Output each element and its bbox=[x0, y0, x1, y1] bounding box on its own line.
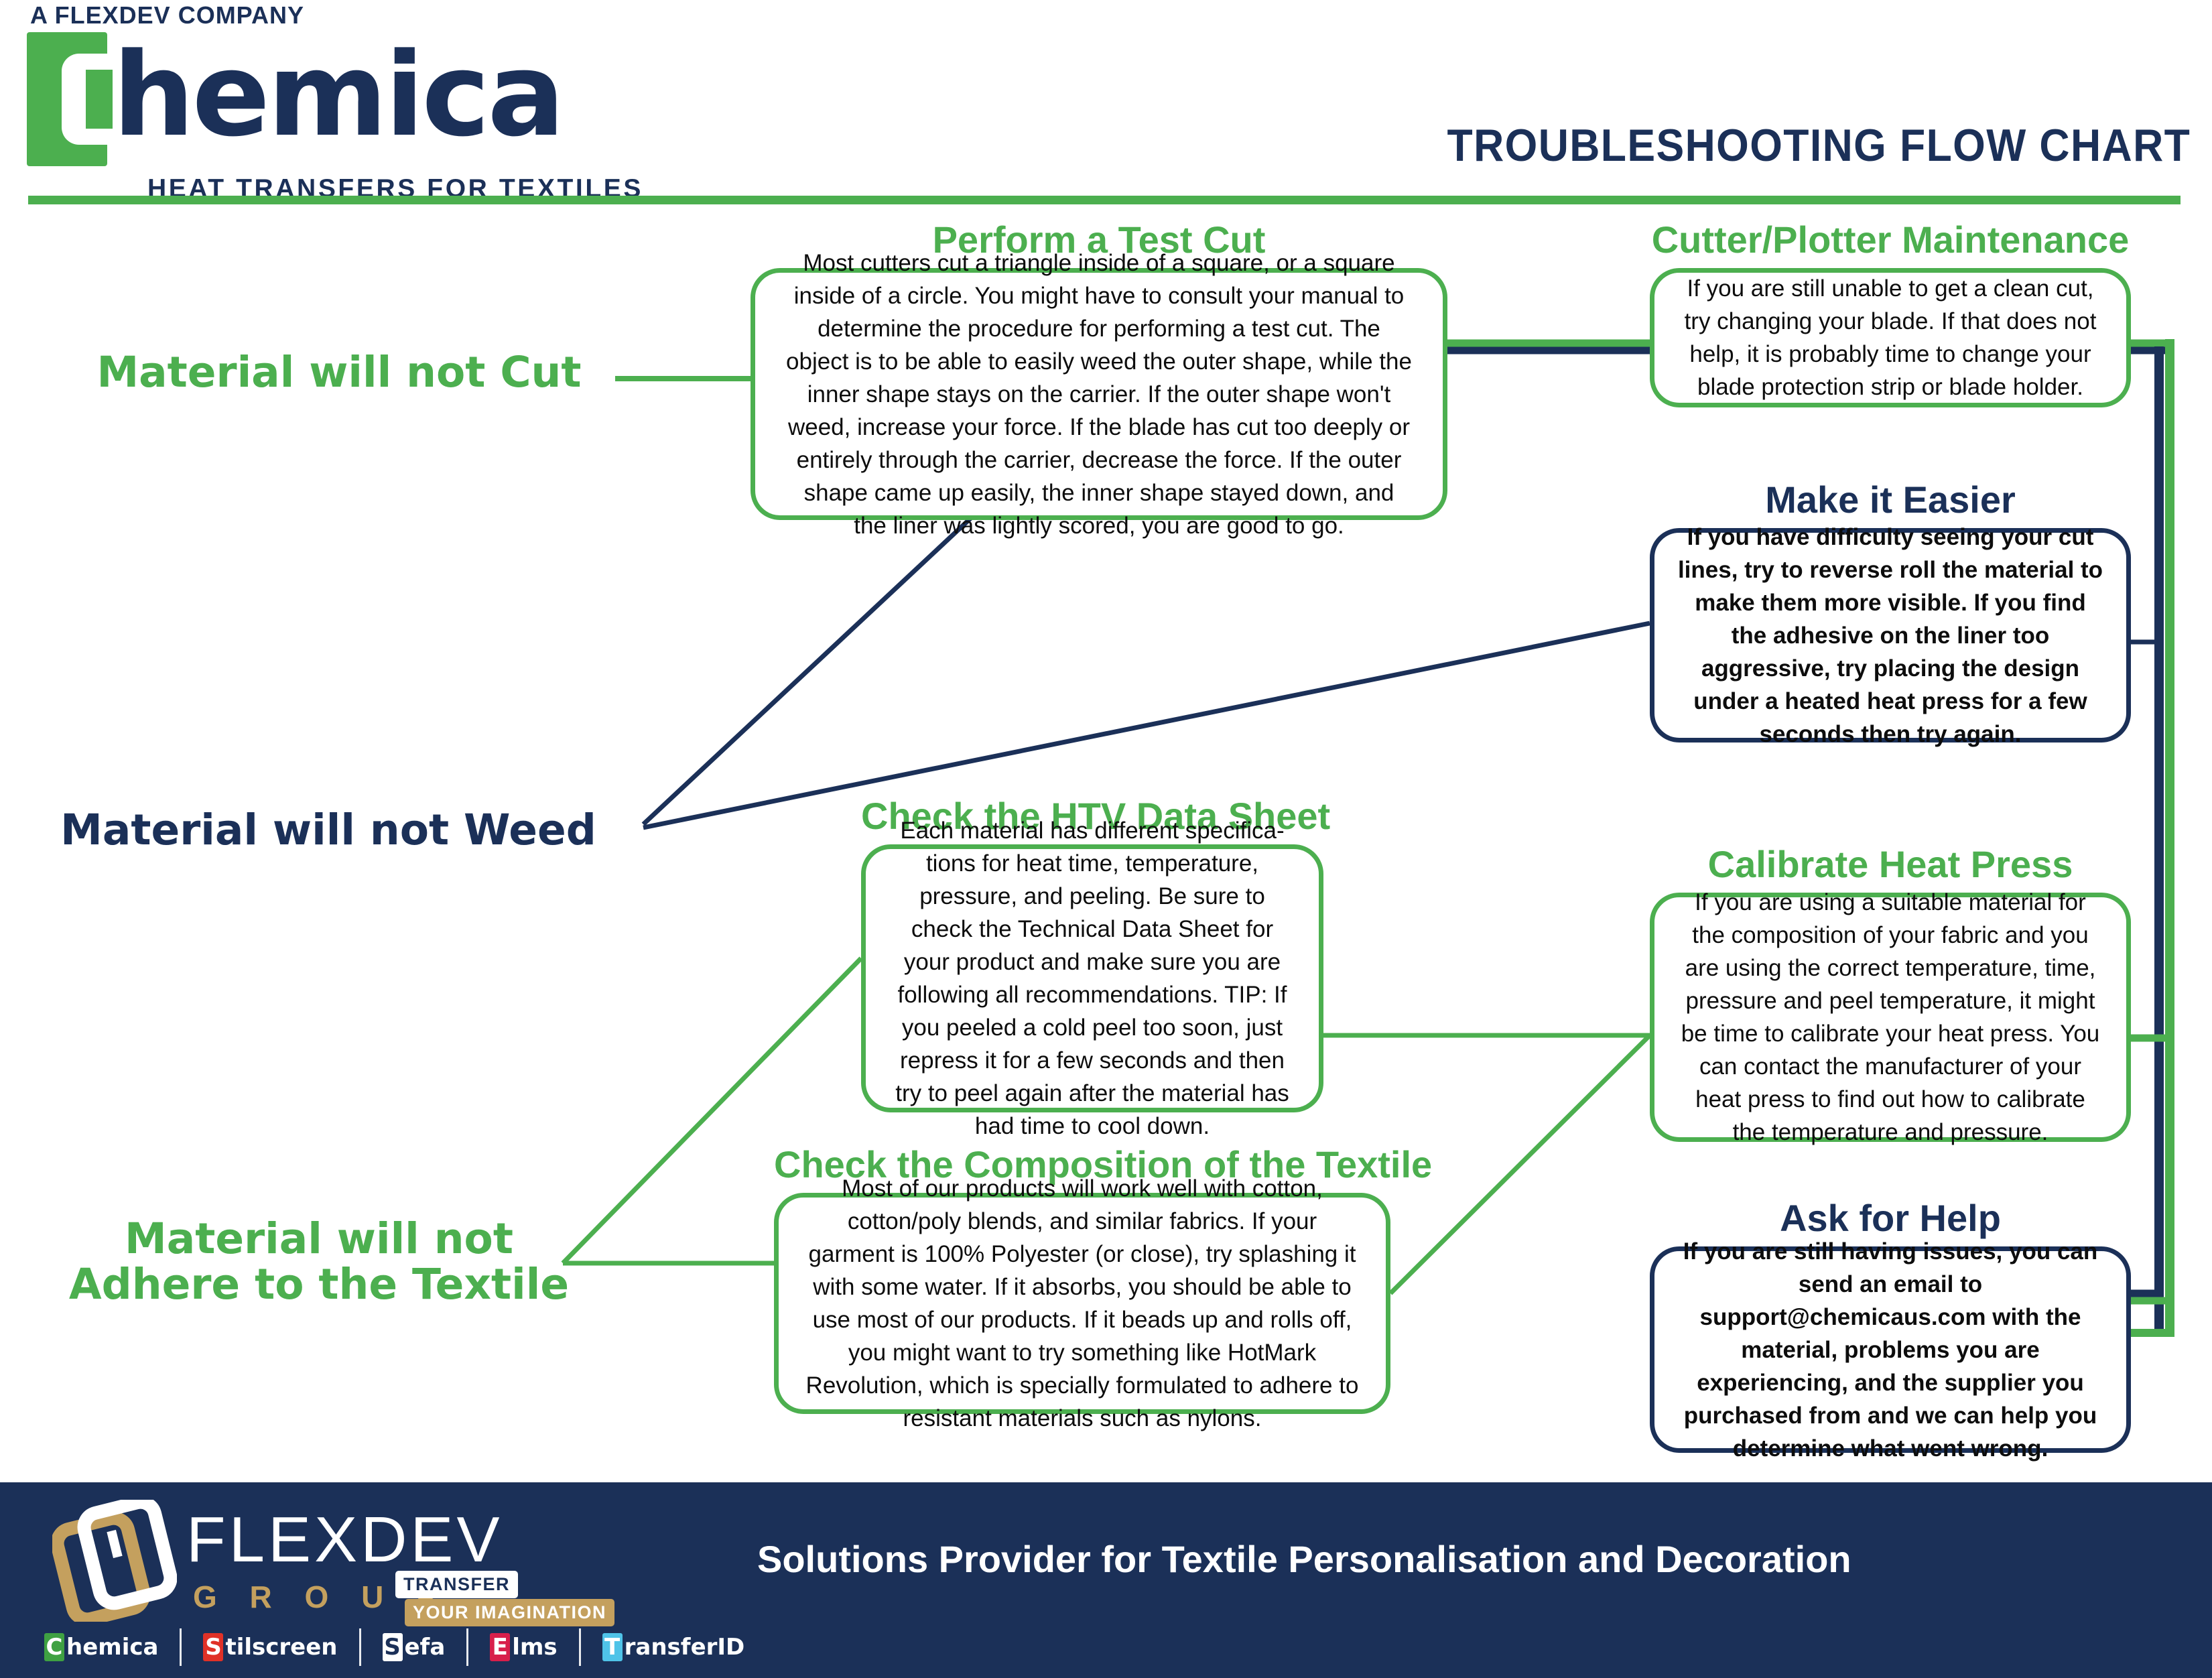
node-calibrate-heat-press: Calibrate Heat Press If you are using a … bbox=[1650, 846, 2131, 1142]
node-box-htv-data-sheet: Each material has different specifica-ti… bbox=[861, 844, 1323, 1112]
badge-line-2: YOUR IMAGINATION bbox=[405, 1599, 614, 1626]
brand-transferid: T ransferID bbox=[602, 1633, 745, 1661]
flexdev-group-logo: FLEXDEV G R O U P TRANSFER YOUR IMAGINAT… bbox=[52, 1500, 562, 1622]
brand-divider bbox=[359, 1628, 361, 1666]
brand-chemica: C hemica bbox=[44, 1633, 158, 1661]
badge-line-1: TRANSFER bbox=[395, 1571, 518, 1598]
transfer-imagination-badge: TRANSFER YOUR IMAGINATION bbox=[395, 1571, 515, 1631]
node-box-test-cut: Most cutters cut a triangle inside of a … bbox=[751, 268, 1447, 520]
brand-elms: E lms bbox=[490, 1633, 557, 1661]
brand-cap-transferid: T bbox=[602, 1633, 623, 1661]
node-ask-for-help: Ask for Help If you are still having iss… bbox=[1650, 1200, 2131, 1453]
node-title-calibrate-heat-press: Calibrate Heat Press bbox=[1650, 846, 2131, 883]
brand-rest-transferid: ransferID bbox=[625, 1634, 745, 1661]
node-cutter-maintenance: Cutter/Plotter Maintenance If you are st… bbox=[1650, 221, 2131, 407]
brand-rest-elms: lms bbox=[512, 1634, 557, 1661]
node-title-make-it-easier: Make it Easier bbox=[1650, 481, 2131, 519]
brand-cap-sefa: S bbox=[383, 1633, 403, 1661]
node-body-test-cut: Most cutters cut a triangle inside of a … bbox=[786, 247, 1412, 542]
node-htv-data-sheet: Check the HTV Data Sheet Each material h… bbox=[861, 797, 1323, 1112]
node-make-it-easier: Make it Easier If you have difficulty se… bbox=[1650, 481, 2131, 743]
flexdev-wordmark: FLEXDEV bbox=[186, 1508, 503, 1572]
node-textile-composition: Check the Composition of the Textile Mos… bbox=[774, 1146, 1390, 1414]
flowchart-poster: A FLEXDEV COMPANY hemica HEAT TRANSFERS … bbox=[0, 0, 2212, 1678]
brand-stilscreen: S tilscreen bbox=[203, 1633, 337, 1661]
brand-rest-stilscreen: tilscreen bbox=[225, 1634, 337, 1661]
node-body-cutter-maintenance: If you are still unable to get a clean c… bbox=[1680, 272, 2101, 403]
row-label-material-will-not-weed: Material will not Weed bbox=[27, 808, 630, 853]
brand-divider bbox=[180, 1628, 182, 1666]
brand-cap-chemica: C bbox=[44, 1633, 64, 1661]
brand-family-row: C hemica S tilscreen S efa E lms T ransf… bbox=[44, 1628, 744, 1666]
node-body-calibrate-heat-press: If you are using a suitable material for… bbox=[1679, 886, 2102, 1149]
node-body-htv-data-sheet: Each material has different specifica-ti… bbox=[890, 814, 1295, 1143]
node-body-textile-composition: Most of our products will work well with… bbox=[805, 1172, 1359, 1435]
flexdev-mark-icon bbox=[52, 1500, 177, 1622]
brand-sefa: S efa bbox=[383, 1633, 446, 1661]
node-test-cut: Perform a Test Cut Most cutters cut a tr… bbox=[751, 221, 1447, 520]
node-box-ask-for-help: If you are still having issues, you can … bbox=[1650, 1246, 2131, 1453]
brand-rest-sefa: efa bbox=[405, 1634, 446, 1661]
node-title-ask-for-help: Ask for Help bbox=[1650, 1200, 2131, 1237]
node-box-calibrate-heat-press: If you are using a suitable material for… bbox=[1650, 893, 2131, 1142]
node-title-cutter-maintenance: Cutter/Plotter Maintenance bbox=[1650, 221, 2131, 259]
brand-rest-chemica: hemica bbox=[66, 1634, 158, 1661]
node-box-make-it-easier: If you have difficulty seeing your cut l… bbox=[1650, 528, 2131, 743]
brand-cap-elms: E bbox=[490, 1633, 510, 1661]
node-box-textile-composition: Most of our products will work well with… bbox=[774, 1193, 1390, 1414]
node-body-make-it-easier: If you have difficulty seeing your cut l… bbox=[1675, 521, 2106, 751]
row-label-material-will-not-adhere: Material will not Adhere to the Textile bbox=[64, 1216, 574, 1307]
node-body-ask-for-help: If you are still having issues, you can … bbox=[1675, 1235, 2106, 1465]
row-label-material-will-not-cut: Material will not Cut bbox=[64, 350, 614, 395]
node-box-cutter-maintenance: If you are still unable to get a clean c… bbox=[1650, 268, 2131, 407]
brand-cap-stilscreen: S bbox=[203, 1633, 223, 1661]
brand-divider bbox=[466, 1628, 468, 1666]
brand-divider bbox=[579, 1628, 581, 1666]
footer-tagline: Solutions Provider for Textile Personali… bbox=[757, 1537, 1851, 1581]
